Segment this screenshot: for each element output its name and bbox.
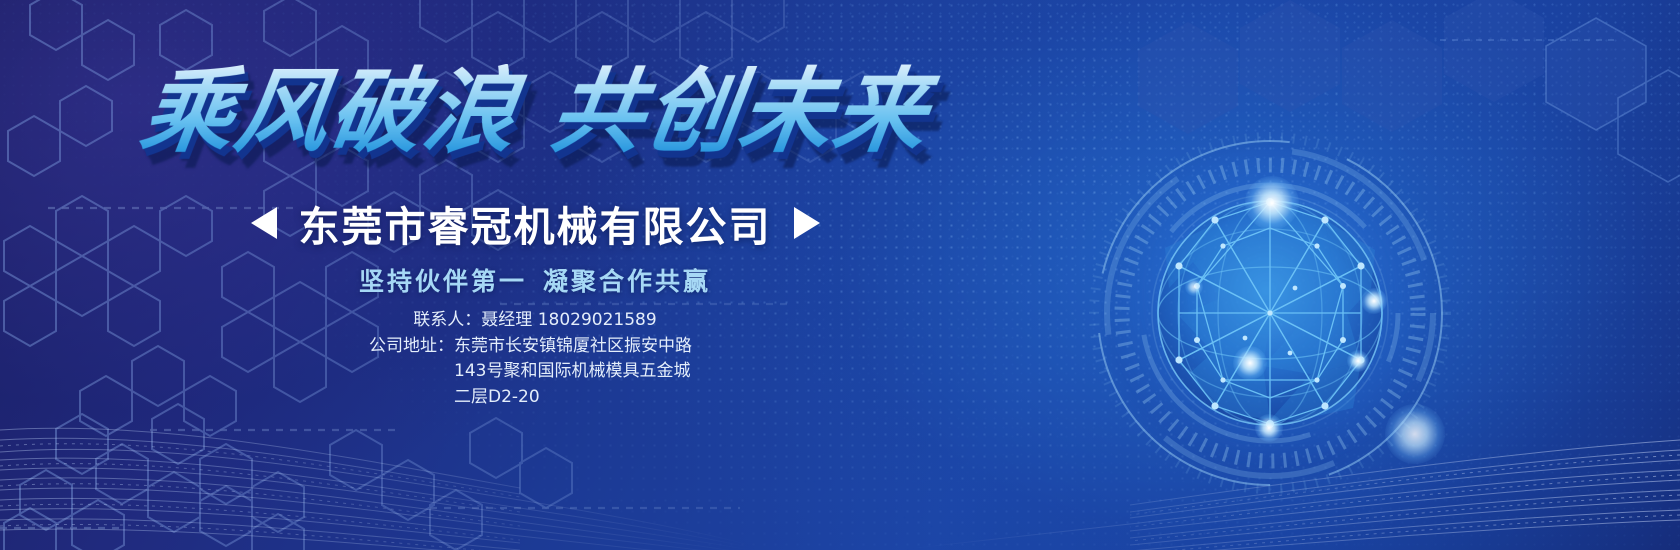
company-address-value: 东莞市长安镇锦厦社区振安中路143号聚和国际机械模具五金城二层D2-20 [454,334,701,411]
company-address-label: 公司地址： [369,334,454,360]
contact-person-value: 聂经理 18029021589 [481,308,656,334]
tech-globe-graphic [1085,128,1455,498]
contact-info: 联系人： 聂经理 18029021589 公司地址： 东莞市长安镇锦厦社区振安中… [0,308,1070,410]
promo-banner: 乘风破浪共创未来 东莞市睿冠机械有限公司 坚持伙伴第一凝聚合作共赢 联系人： 聂… [0,0,1680,550]
right-triangle-icon [794,207,820,239]
banner-text-block: 乘风破浪共创未来 东莞市睿冠机械有限公司 坚持伙伴第一凝聚合作共赢 联系人： 聂… [0,0,1070,550]
title-part-1: 乘风破浪 [135,58,526,165]
page-title: 乘风破浪共创未来 [0,64,1077,161]
slogan-part-1: 坚持伙伴第一 [359,267,527,296]
slogan: 坚持伙伴第一凝聚合作共赢 [0,262,1070,298]
company-name: 东莞市睿冠机械有限公司 [299,193,772,253]
company-address-line: 公司地址： 东莞市长安镇锦厦社区振安中路143号聚和国际机械模具五金城二层D2-… [369,334,701,411]
contact-person-label: 联系人： [413,308,481,334]
slogan-part-2: 凝聚合作共赢 [543,267,711,296]
contact-person-line: 联系人： 聂经理 18029021589 [413,308,656,334]
left-triangle-icon [251,207,277,239]
title-part-2: 共创未来 [545,58,936,165]
company-name-row: 东莞市睿冠机械有限公司 [0,193,1070,253]
